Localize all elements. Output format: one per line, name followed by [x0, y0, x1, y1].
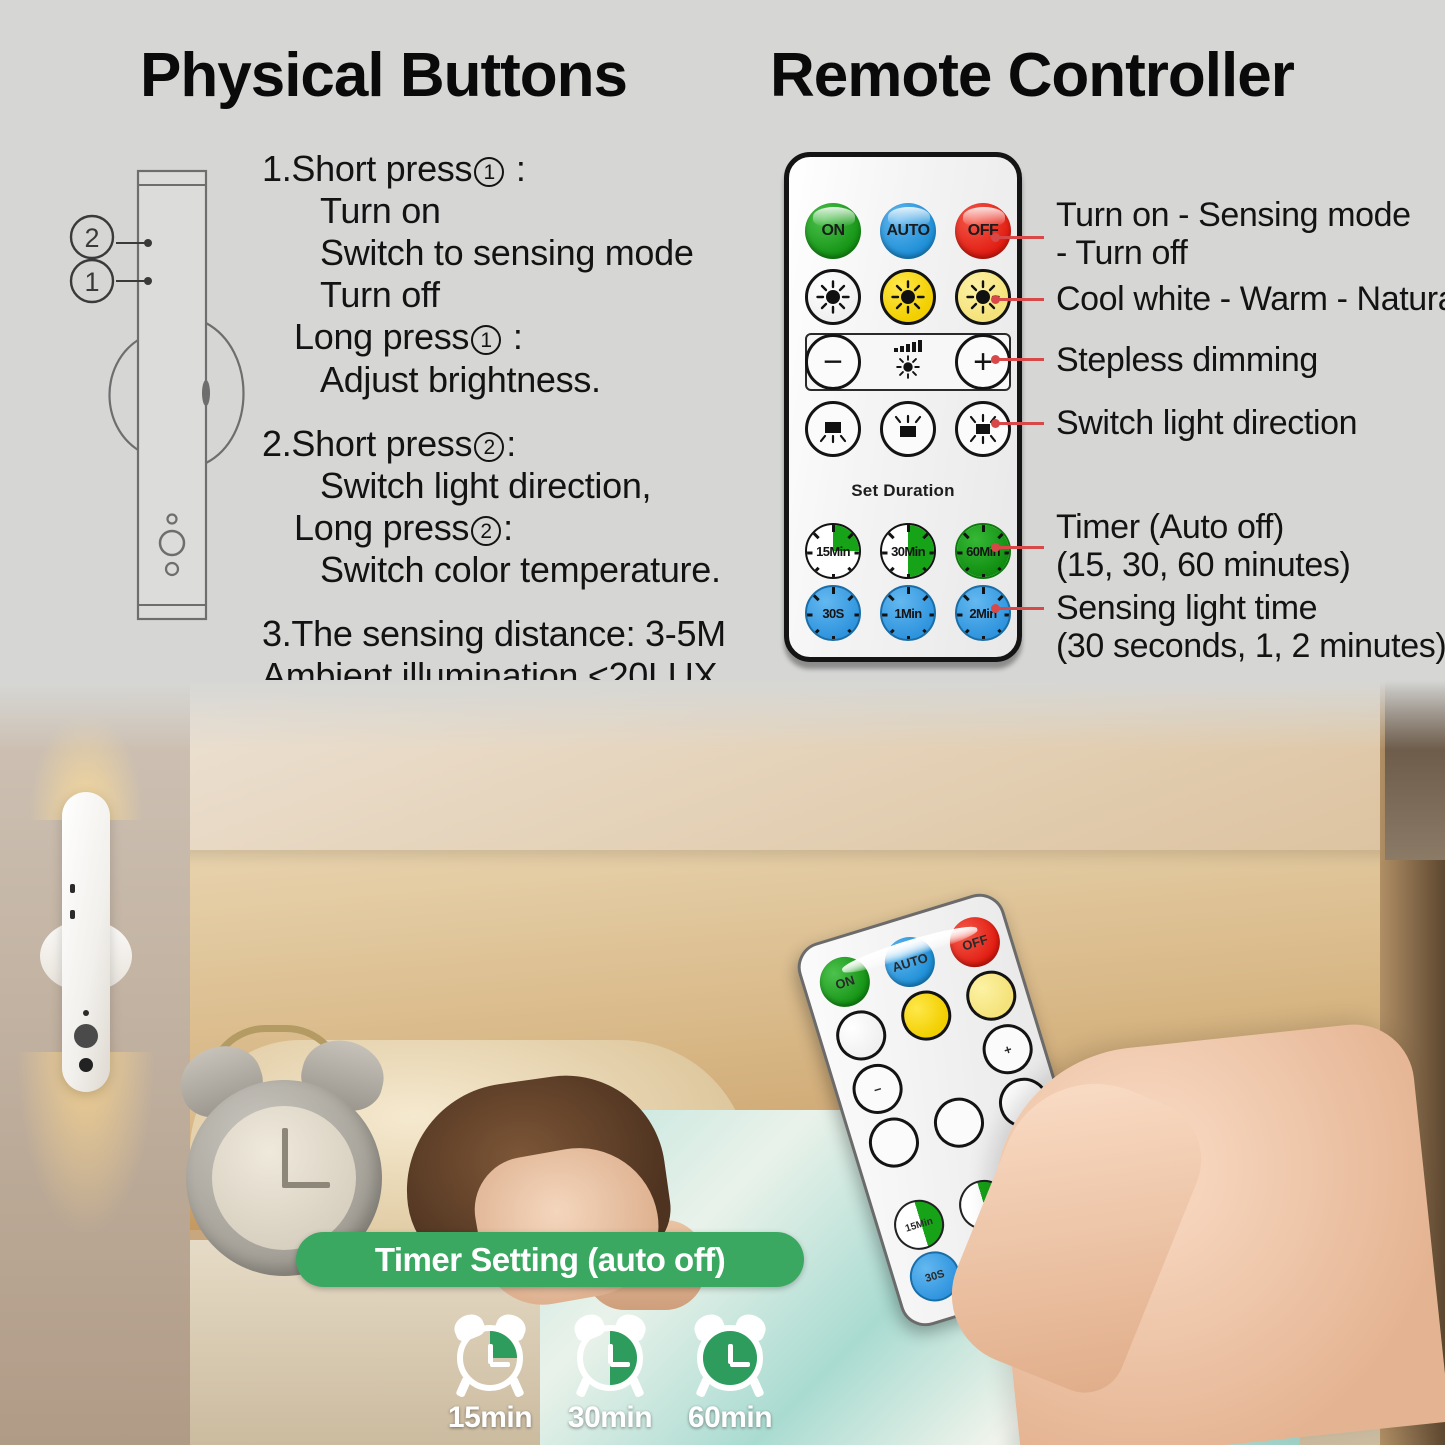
button-label: ON: [822, 222, 845, 240]
annotation-sensing: Sensing light time (30 seconds, 1, 2 min…: [1056, 589, 1445, 665]
annotation-line: (30 seconds, 1, 2 minutes): [1056, 627, 1445, 665]
remote-controller-diagram: ON AUTO OFF: [784, 152, 1022, 662]
photo-natural-white-button[interactable]: [960, 964, 1022, 1026]
sun-icon: [815, 279, 851, 315]
remote-off-button[interactable]: OFF: [955, 203, 1011, 259]
alarm-clock-icon: [691, 1315, 769, 1397]
instruction-text: 2.Short press: [262, 423, 472, 464]
timer-icon-label: 15min: [448, 1401, 532, 1435]
clock-face: [457, 1325, 523, 1391]
indicator-dot: [83, 1010, 89, 1016]
remote-dim-up-button[interactable]: +: [955, 334, 1011, 390]
brightness-bars-icon: [894, 339, 922, 352]
remote-natural-white-button[interactable]: [955, 269, 1011, 325]
spacer: [262, 591, 762, 613]
alarm-dial: [212, 1106, 356, 1250]
button-label: 30Min: [891, 544, 925, 559]
leader-line-timer: [998, 546, 1044, 549]
leader-line-color-temp: [998, 298, 1044, 301]
clock-hands: [703, 1331, 757, 1385]
annotation-timer: Timer (Auto off) (15, 30, 60 minutes): [1056, 508, 1350, 584]
instruction-1-short: 1.Short press1 :: [262, 148, 762, 190]
alarm-hand-hour: [282, 1128, 288, 1184]
clock-face: [697, 1325, 763, 1391]
annotation-color-temp: Cool white - Warm - Natural: [1056, 280, 1445, 318]
clock-hands: [583, 1331, 637, 1385]
heading-physical-buttons: Physical Buttons: [140, 40, 627, 111]
instruction-switch-direction: Switch light direction,: [262, 465, 762, 507]
annotation-line: Sensing light time: [1056, 589, 1445, 627]
circled-number-2: 2: [474, 432, 504, 462]
photo-cool-white-button[interactable]: [830, 1004, 892, 1066]
remote-on-button[interactable]: ON: [805, 203, 861, 259]
annotation-line: Switch light direction: [1056, 404, 1357, 442]
annotation-line: Timer (Auto off): [1056, 508, 1350, 546]
annotation-power: Turn on - Sensing mode - Turn off: [1056, 196, 1411, 272]
instruction-turn-off: Turn off: [262, 274, 762, 316]
sun-icon: [895, 354, 921, 380]
instruction-text: 1.Short press: [262, 148, 472, 189]
photo-top-fade: [0, 680, 1445, 750]
svg-text:2: 2: [84, 223, 99, 253]
remote-sensing-30s-button[interactable]: 30S: [805, 585, 861, 641]
light-down-icon: [814, 410, 852, 448]
photo-brightness-indicator: [911, 1038, 973, 1100]
timer-icon-label: 60min: [688, 1401, 772, 1435]
alarm-clock-icon: [451, 1315, 529, 1397]
remote-warm-white-button[interactable]: [880, 269, 936, 325]
clock-face: [577, 1325, 643, 1391]
remote-sensing-2min-button[interactable]: 2Min: [955, 585, 1011, 641]
instruction-suffix: :: [506, 148, 525, 189]
circled-number-1: 1: [471, 325, 501, 355]
svg-text:1: 1: [84, 267, 99, 297]
remote-light-up-button[interactable]: [880, 401, 936, 457]
sun-icon: [890, 279, 926, 315]
remote-color-temp-row: [805, 269, 1011, 325]
annotation-line: Cool white - Warm - Natural: [1056, 280, 1445, 318]
set-duration-label: Set Duration: [789, 481, 1017, 501]
instruction-switch-color-temp: Switch color temperature.: [262, 549, 762, 591]
remote-light-down-button[interactable]: [805, 401, 861, 457]
remote-sensing-1min-button[interactable]: 1Min: [880, 585, 936, 641]
button-label: 15Min: [816, 544, 850, 559]
alarm-hand-minute: [282, 1182, 330, 1188]
info-panel: Physical Buttons Remote Controller 2 1 1…: [0, 0, 1445, 700]
photo-light-down-button[interactable]: [863, 1111, 925, 1173]
motion-sensor-light-bar[interactable]: [62, 792, 110, 1092]
light-up-icon: [889, 410, 927, 448]
leader-line-power: [998, 236, 1044, 239]
remote-dimmer-row: − +: [805, 333, 1011, 391]
button-label: 1Min: [894, 606, 921, 621]
instruction-suffix: :: [503, 507, 513, 548]
spacer: [262, 401, 762, 423]
button-2-dot: [70, 910, 75, 919]
button-label: 30S: [822, 606, 843, 621]
photo-dim-up-button[interactable]: +: [976, 1018, 1038, 1080]
timer-icon-row: 15min 30min 60min: [440, 1315, 780, 1440]
pir-sensor: [74, 1024, 98, 1048]
instruction-list: 1.Short press1 : Turn on Switch to sensi…: [262, 148, 762, 697]
remote-power-row: ON AUTO OFF: [805, 203, 1011, 259]
light-both-icon: [964, 410, 1002, 448]
annotation-line: (15, 30, 60 minutes): [1056, 546, 1350, 584]
remote-auto-button[interactable]: AUTO: [880, 203, 936, 259]
leader-line-sensing: [998, 607, 1044, 610]
circled-number-2: 2: [471, 516, 501, 546]
leader-line-dimming: [998, 358, 1044, 361]
remote-direction-row: [805, 401, 1011, 457]
clock-hands: [463, 1331, 517, 1385]
timer-icon-15min: 15min: [440, 1315, 540, 1435]
timer-icon-30min: 30min: [560, 1315, 660, 1435]
annotation-direction: Switch light direction: [1056, 404, 1357, 442]
remote-timer-row: 15Min 30Min 60Min: [805, 523, 1011, 579]
instruction-2-long: Long press2:: [262, 507, 762, 549]
timer-icon-label: 30min: [568, 1401, 652, 1435]
circled-number-1: 1: [474, 157, 504, 187]
photo-warm-white-button[interactable]: [895, 984, 957, 1046]
instruction-suffix: :: [506, 423, 516, 464]
instruction-turn-on: Turn on: [262, 190, 762, 232]
button-1-dot: [70, 884, 75, 893]
heading-remote-controller: Remote Controller: [770, 40, 1294, 111]
instruction-suffix: :: [503, 316, 522, 357]
leader-line-direction: [998, 422, 1044, 425]
annotation-line: - Turn off: [1056, 234, 1411, 272]
photo-light-up-button[interactable]: [928, 1091, 990, 1153]
instruction-text: Long press: [294, 507, 469, 548]
instruction-1-long: Long press1 :: [262, 316, 762, 358]
photo-off-button[interactable]: OFF: [944, 911, 1006, 973]
remote-timer-15min-button[interactable]: 15Min: [805, 523, 861, 579]
instruction-sensing-mode: Switch to sensing mode: [262, 232, 762, 274]
instruction-adjust-brightness: Adjust brightness.: [262, 359, 762, 401]
timer-icon-60min: 60min: [680, 1315, 780, 1435]
photo-timer-15min-button[interactable]: 15Min: [888, 1194, 950, 1256]
annotation-line: Stepless dimming: [1056, 341, 1318, 379]
remote-timer-30min-button[interactable]: 30Min: [880, 523, 936, 579]
instruction-2-short: 2.Short press2:: [262, 423, 762, 465]
photo-dim-down-button[interactable]: −: [846, 1058, 908, 1120]
light-sensor: [79, 1058, 93, 1072]
annotation-line: Turn on - Sensing mode: [1056, 196, 1411, 234]
annotation-dimming: Stepless dimming: [1056, 341, 1318, 379]
remote-timer-60min-button[interactable]: 60Min: [955, 523, 1011, 579]
alarm-clock-icon: [571, 1315, 649, 1397]
instruction-sensing-distance: 3.The sensing distance: 3-5M: [262, 613, 762, 655]
button-label: AUTO: [886, 222, 929, 240]
instruction-text: Long press: [294, 316, 469, 357]
remote-cool-white-button[interactable]: [805, 269, 861, 325]
banner-label: Timer Setting (auto off): [375, 1241, 725, 1279]
timer-setting-banner: Timer Setting (auto off): [296, 1232, 804, 1287]
remote-sensing-row: 30S 1Min 2Min: [805, 585, 1011, 641]
remote-light-both-button[interactable]: [955, 401, 1011, 457]
